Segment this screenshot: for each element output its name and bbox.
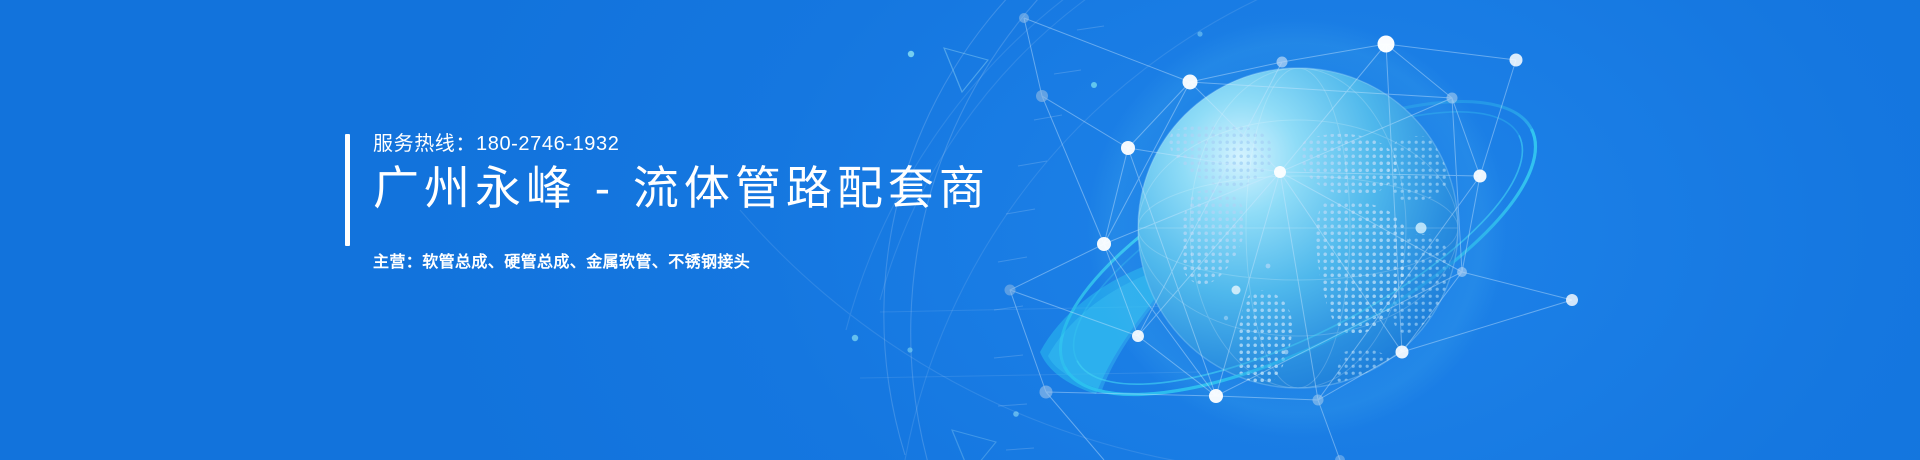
orbital-ring [1021, 44, 1575, 453]
triangle-arrow [944, 48, 988, 92]
page-title: 广州永峰 - 流体管路配套商 [373, 162, 990, 214]
network-nodes [1005, 13, 1579, 460]
business-scope-subtitle: 主营：软管总成、硬管总成、金属软管、不锈钢接头 [373, 252, 750, 274]
promo-banner: 服务热线：180-2746-1932 广州永峰 - 流体管路配套商 主营：软管总… [0, 0, 1920, 460]
service-hotline: 服务热线：180-2746-1932 [373, 132, 990, 156]
vertical-accent-bar [345, 134, 350, 246]
ring-glow-blob [1040, 252, 1196, 394]
network-mesh [1010, 18, 1572, 460]
orbital-ring-fill [1097, 269, 1342, 441]
orbital-ring-front [1065, 129, 1575, 452]
triangle-arrow [952, 430, 996, 460]
grid-lines [860, 306, 1200, 378]
banner-text-block: 服务热线：180-2746-1932 广州永峰 - 流体管路配套商 [345, 132, 990, 250]
network-globe [1138, 68, 1458, 402]
globe-continents [1169, 123, 1452, 403]
